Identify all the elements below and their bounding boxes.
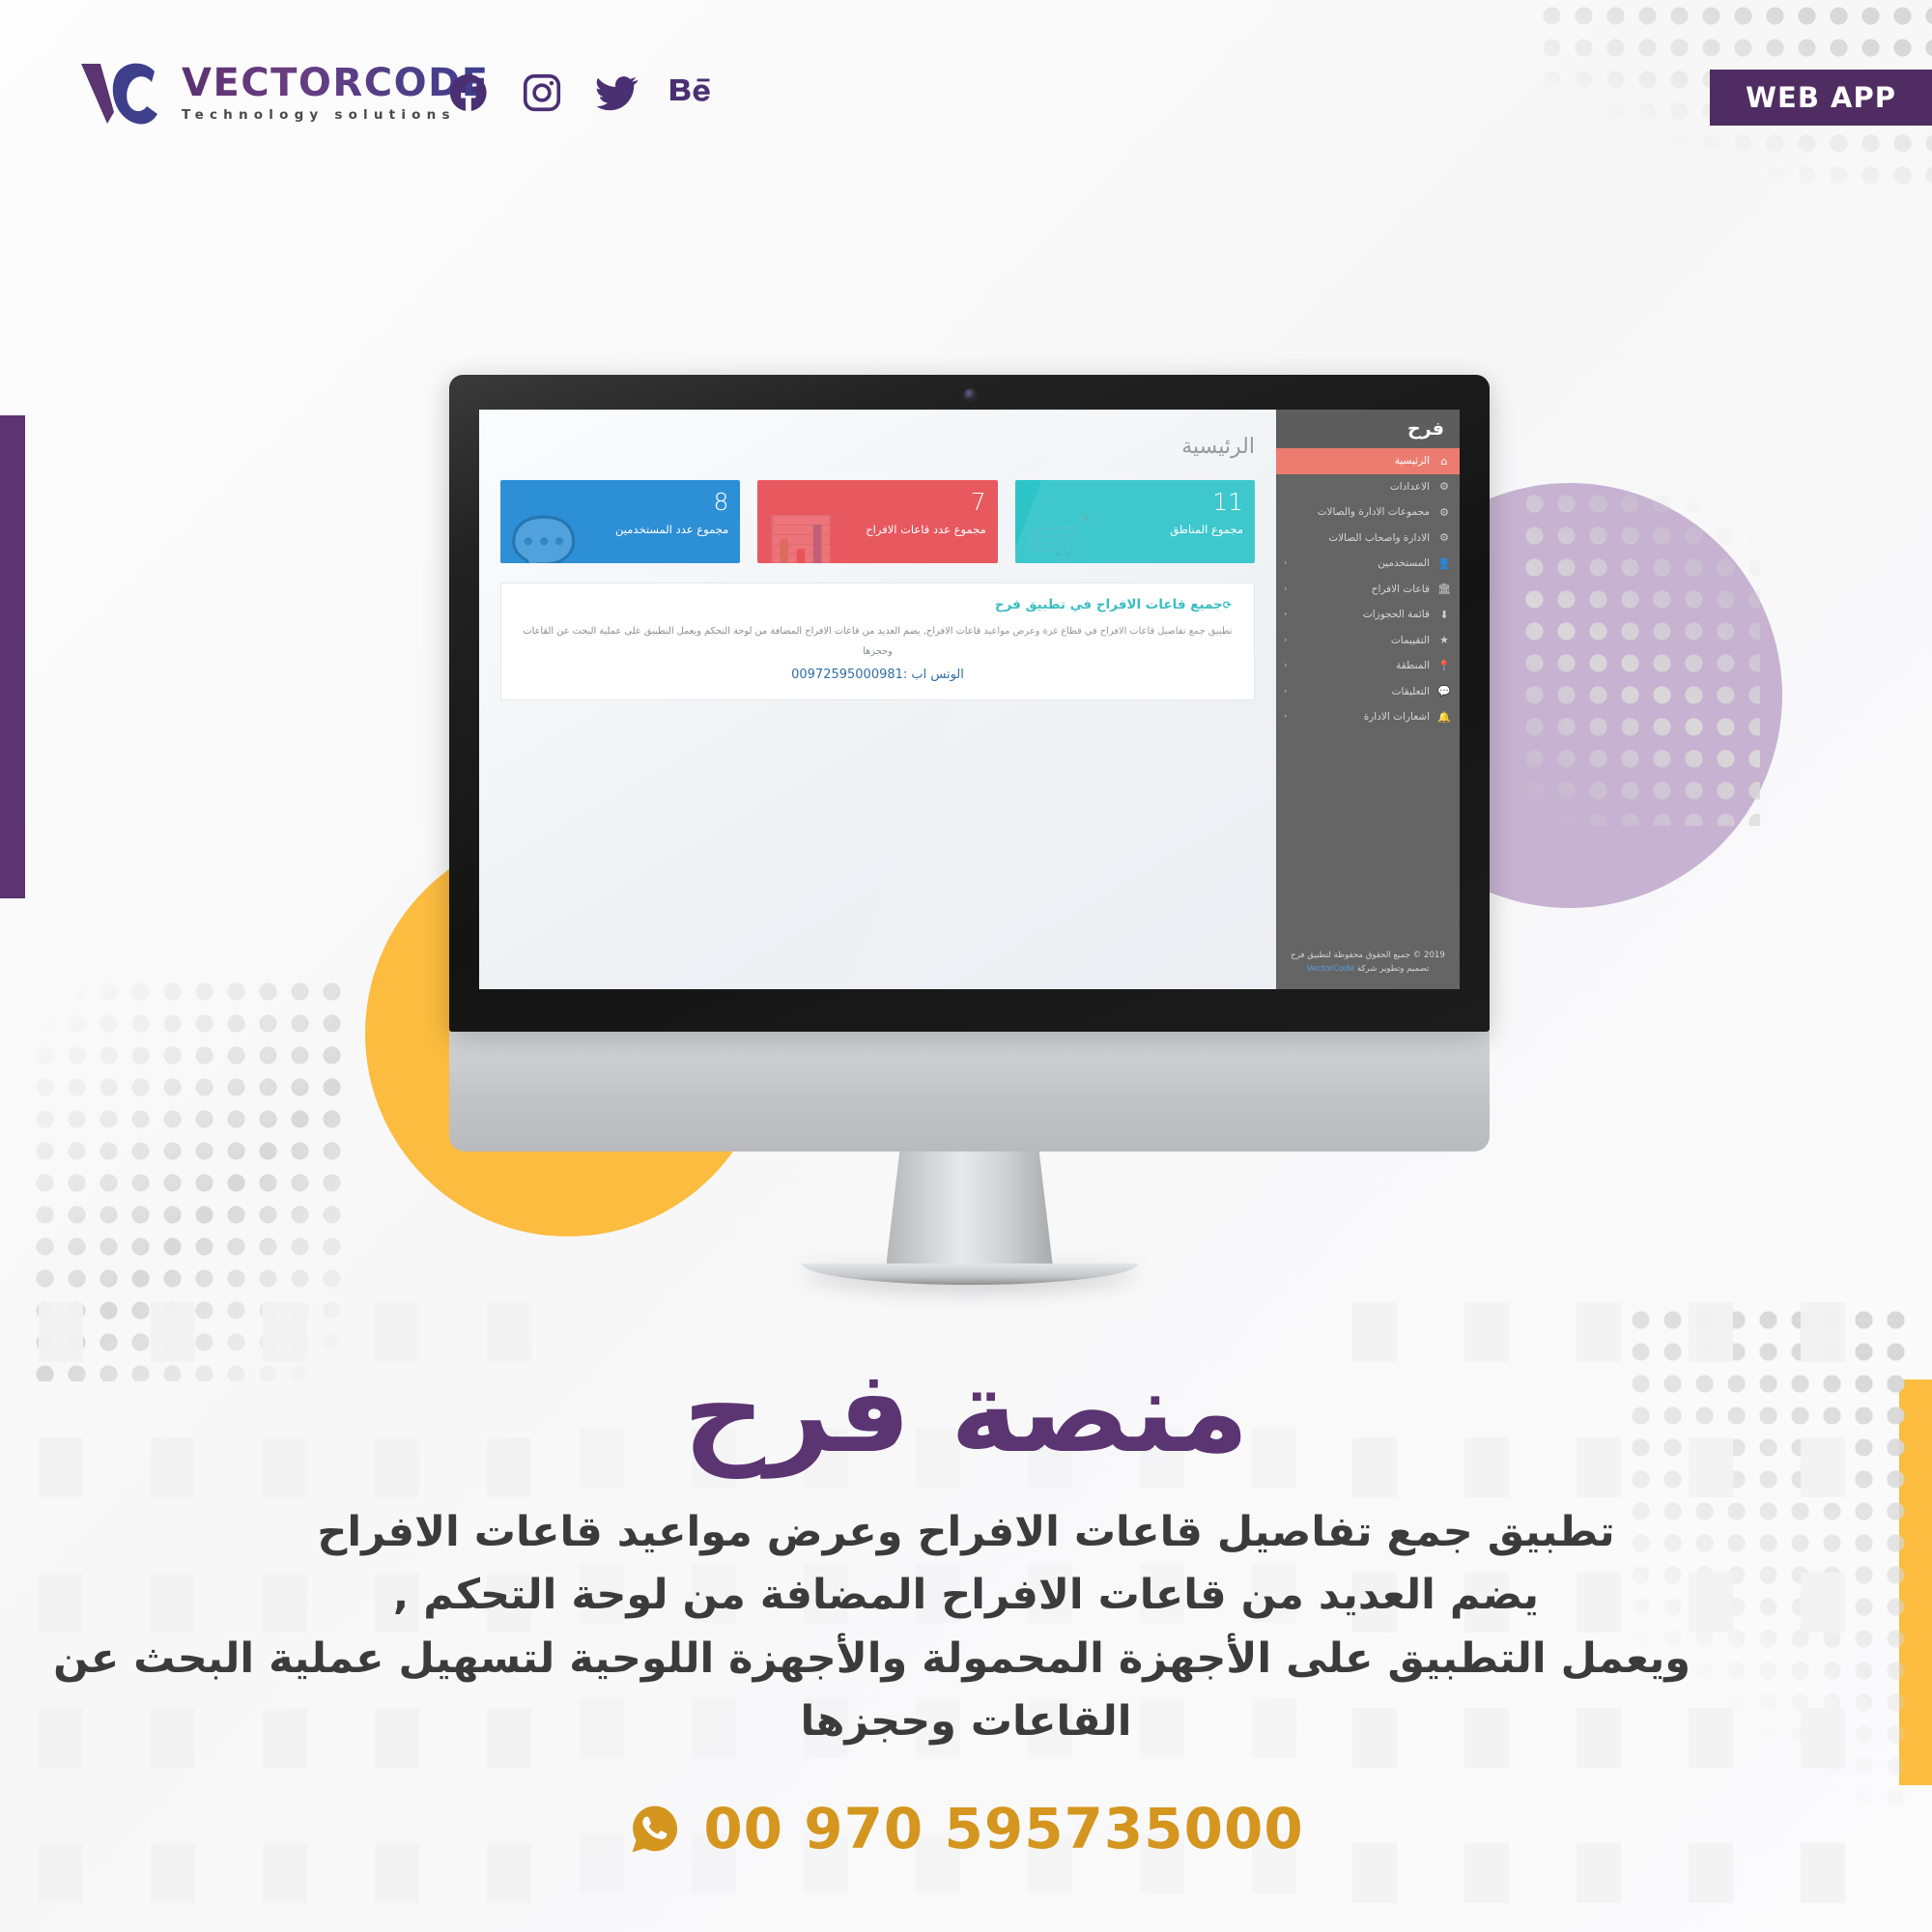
chevron-left-icon: ‹: [1284, 558, 1288, 568]
promo-description-line-1: تطبيق جمع تفاصيل قاعات الافراح وعرض مواع…: [241, 1501, 1690, 1564]
desktop-monitor-mockup: فرح ⌂الرئيسية⚙الاعدادات⚙مجموعات الادارة …: [449, 375, 1490, 1285]
sidebar-item-1[interactable]: ⌂الرئيسية: [1276, 448, 1460, 474]
bank-icon: 🏛: [1437, 582, 1451, 595]
chevron-left-icon: ‹: [1284, 687, 1288, 696]
sidebar-item-label: الرئيسية: [1284, 455, 1430, 467]
sidebar-item-label: مجموعات الادارة والصالات: [1284, 506, 1430, 518]
sidebar-item-9[interactable]: 📍المنطقة‹: [1276, 653, 1460, 679]
purple-accent-bar-left: [0, 415, 25, 898]
contact-row[interactable]: 00 970 595735000: [0, 1796, 1932, 1861]
sidebar-item-label: المنطقة: [1295, 660, 1430, 671]
download-circle-icon: ⬇: [1437, 609, 1451, 621]
sidebar-item-label: المستخدمين: [1295, 557, 1430, 569]
sidebar-item-2[interactable]: ⚙الاعدادات: [1276, 474, 1460, 500]
gear-icon: ⚙: [1437, 480, 1451, 493]
app-brand-logo: فرح: [1276, 410, 1460, 448]
sidebar-item-8[interactable]: ★التقييمات‹: [1276, 628, 1460, 654]
sidebar-item-label: التعليقات: [1295, 686, 1430, 697]
whatsapp-icon: [628, 1802, 682, 1856]
info-panel: ⟳جميع قاعات الافراح في تطبيق فرح تطبيق ج…: [500, 582, 1255, 700]
page-title: الرئيسية: [500, 435, 1255, 459]
info-panel-body: تطبيق جمع تفاصيل قاعات الافراح في قطاع غ…: [519, 622, 1236, 662]
app-footer-company-link[interactable]: VectorCode: [1307, 964, 1354, 974]
map-pin-icon: 📍: [1437, 660, 1451, 672]
sidebar-item-label: قائمة الحجوزات: [1295, 609, 1430, 620]
promo-description-line-4: القاعات وحجزها: [241, 1690, 1690, 1753]
sidebar-item-7[interactable]: ⬇قائمة الحجوزات‹: [1276, 602, 1460, 628]
app-footer-credit: تصميم وتطوير شركة VectorCode: [1284, 963, 1452, 976]
chevron-left-icon: ‹: [1284, 661, 1288, 670]
promo-description-line-2: يضم العديد من قاعات الافراح المضافة من ل…: [241, 1564, 1690, 1627]
company-tagline: Technology solutions: [182, 109, 490, 123]
info-panel-title-text: جميع قاعات الافراح في تطبيق فرح: [995, 597, 1223, 612]
monitor-stand-base: [802, 1264, 1138, 1285]
company-logo: VECTORCODE Technology solutions: [75, 56, 490, 129]
refresh-icon: ⟳: [1223, 599, 1232, 611]
web-app-badge: WEB APP: [1710, 70, 1932, 126]
chevron-left-icon: ‹: [1284, 636, 1288, 645]
sidebar-item-label: الادارة واصحاب الصالات: [1284, 532, 1430, 544]
chevron-left-icon: ‹: [1284, 712, 1288, 722]
sidebar-item-label: اشعارات الادارة: [1295, 711, 1430, 723]
social-links: [446, 70, 723, 116]
stat-card-2[interactable]: 📊7مجموع عدد قاعات الافراح: [757, 480, 997, 563]
stat-cards: 🛒11مجموع المناطق📊7مجموع عدد قاعات الافرا…: [500, 480, 1255, 563]
stat-card-value: 11: [1027, 490, 1243, 514]
app-footer-credit-text: تصميم وتطوير شركة: [1354, 964, 1429, 974]
monitor-bottom-bezel: [449, 1032, 1490, 1151]
page-header: VECTORCODE Technology solutions: [0, 0, 1932, 164]
dot-pattern-left: [29, 976, 348, 1381]
company-name: VECTORCODE: [182, 64, 490, 102]
chevron-left-icon: ‹: [1284, 584, 1288, 594]
promo-description: تطبيق جمع تفاصيل قاعات الافراح وعرض مواع…: [241, 1501, 1690, 1753]
gear-icon: ⚙: [1437, 531, 1451, 544]
sidebar-item-label: التقييمات: [1295, 635, 1430, 646]
promo-copy: منصة فرح تطبيق جمع تفاصيل قاعات الافراح …: [0, 1352, 1932, 1861]
comment-bubble-icon: 💬: [510, 519, 578, 563]
user-icon: 👤: [1437, 557, 1451, 570]
monitor-stand-neck: [887, 1151, 1053, 1264]
stat-card-value: 7: [769, 490, 985, 514]
stat-card-1[interactable]: 🛒11مجموع المناطق: [1015, 480, 1255, 563]
app-screen: فرح ⌂الرئيسية⚙الاعدادات⚙مجموعات الادارة …: [479, 410, 1460, 989]
sidebar-item-3[interactable]: ⚙مجموعات الادارة والصالات: [1276, 499, 1460, 526]
sidebar-item-label: الاعدادات: [1284, 481, 1430, 493]
app-sidebar: فرح ⌂الرئيسية⚙الاعدادات⚙مجموعات الادارة …: [1276, 410, 1460, 989]
poster-canvas: VECTORCODE Technology solutions: [0, 0, 1932, 1932]
info-panel-whatsapp: الوتس اب :00972595000981: [519, 668, 1236, 682]
app-footer-copyright: 2019 © جميع الحقوق محفوظة لتطبيق فرح: [1284, 950, 1452, 962]
app-content: الرئيسية 🛒11مجموع المناطق📊7مجموع عدد قاع…: [479, 410, 1276, 989]
promo-description-line-3: ويعمل التطبيق على الأجهزة المحمولة والأج…: [241, 1628, 1690, 1690]
behance-icon[interactable]: [668, 71, 723, 115]
gear-icon: ⚙: [1437, 506, 1451, 519]
sidebar-nav: ⌂الرئيسية⚙الاعدادات⚙مجموعات الادارة والص…: [1276, 448, 1460, 730]
facebook-icon[interactable]: [446, 71, 491, 115]
vc-monogram-logo-icon: [75, 56, 160, 129]
sidebar-item-5[interactable]: 👤المستخدمين‹: [1276, 551, 1460, 577]
bell-icon: 🔔: [1437, 711, 1451, 724]
promo-title: منصة فرح: [0, 1352, 1932, 1472]
sidebar-item-label: قاعات الافراح: [1295, 583, 1430, 595]
sidebar-item-11[interactable]: 🔔اشعارات الادارة‹: [1276, 704, 1460, 730]
webcam-icon: [964, 389, 975, 400]
contact-phone-number: 00 970 595735000: [703, 1796, 1303, 1861]
star-icon: ★: [1437, 634, 1451, 646]
cart-icon: 🛒: [1025, 519, 1093, 563]
bar-chart-icon: 📊: [767, 519, 835, 563]
sidebar-item-6[interactable]: 🏛قاعات الافراح‹: [1276, 577, 1460, 603]
stat-card-3[interactable]: 💬8مجموع عدد المستخدمين: [500, 480, 740, 563]
sidebar-item-4[interactable]: ⚙الادارة واصحاب الصالات: [1276, 526, 1460, 552]
app-footer: 2019 © جميع الحقوق محفوظة لتطبيق فرح تصم…: [1276, 940, 1460, 989]
info-panel-title: ⟳جميع قاعات الافراح في تطبيق فرح: [519, 597, 1236, 612]
stat-card-value: 8: [512, 490, 728, 514]
monitor-bezel: فرح ⌂الرئيسية⚙الاعدادات⚙مجموعات الادارة …: [449, 375, 1490, 1032]
sidebar-item-10[interactable]: 💬التعليقات‹: [1276, 679, 1460, 705]
instagram-icon[interactable]: [520, 71, 564, 115]
twitter-icon[interactable]: [593, 70, 639, 116]
comment-icon: 💬: [1437, 685, 1451, 697]
chevron-left-icon: ‹: [1284, 610, 1288, 619]
home-icon: ⌂: [1437, 455, 1451, 468]
dot-pattern-right: [1519, 488, 1760, 826]
